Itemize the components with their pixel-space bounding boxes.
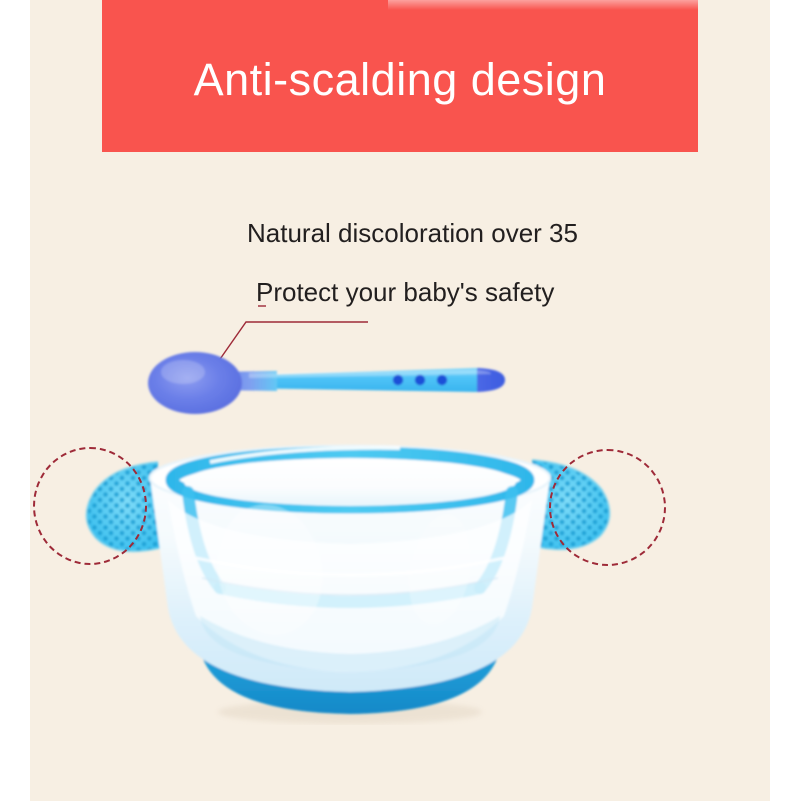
headline-banner: Anti-scalding design — [102, 0, 698, 152]
caption-line-1: Natural discoloration over 35 — [247, 220, 578, 246]
feeding-spoon — [145, 330, 520, 430]
bowl-inner-cavity — [184, 458, 516, 506]
highlight-circle-right-handle — [549, 449, 666, 566]
headline-title: Anti-scalding design — [194, 57, 607, 102]
spoon-grip-dot — [437, 375, 447, 385]
banner-sheen — [388, 0, 698, 10]
spoon-bowl-highlight — [161, 360, 205, 384]
spoon-grip-dot — [415, 375, 425, 385]
highlight-circle-left-handle — [33, 447, 147, 565]
caption-line-2: Protect your baby's safety — [256, 279, 554, 305]
product-marketing-image: Anti-scalding design Natural discolorati… — [0, 0, 801, 801]
spoon-bowl — [148, 352, 242, 414]
spoon-grip-dot — [393, 375, 403, 385]
